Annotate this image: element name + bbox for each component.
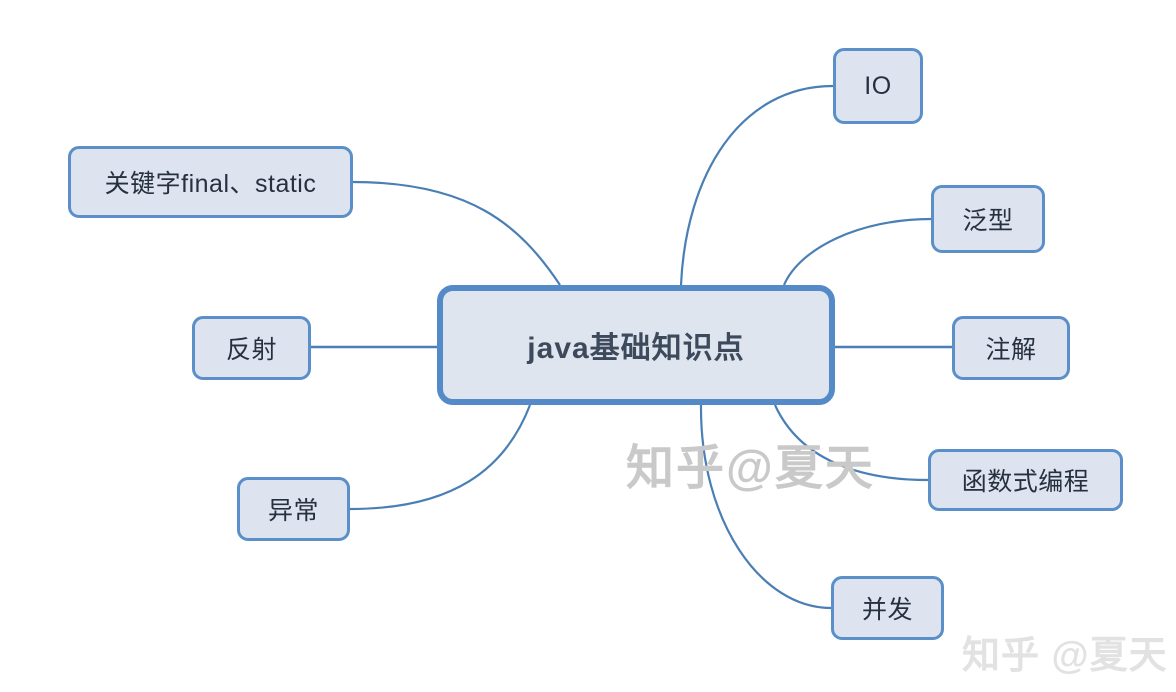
mindmap-canvas: 知乎@夏天 知乎 @夏天 java基础知识点 关键字final、static 反… [0,0,1176,692]
branch-node-concurrency[interactable]: 并发 [831,576,944,640]
branch-node-generics[interactable]: 泛型 [931,185,1045,253]
branch-node-keyword[interactable]: 关键字final、static [68,146,353,218]
branch-node-functional-programming[interactable]: 函数式编程 [928,449,1123,511]
branch-node-reflection[interactable]: 反射 [192,316,311,380]
edge-central-exception [350,405,530,509]
branch-node-io[interactable]: IO [833,48,923,124]
branch-node-exception[interactable]: 异常 [237,477,350,541]
edge-central-generic [784,219,931,285]
watermark-corner: 知乎 @夏天 [962,624,1168,679]
watermark-center: 知乎@夏天 [626,428,875,498]
edge-central-io [681,86,833,285]
edge-central-keyword [353,182,560,285]
central-node[interactable]: java基础知识点 [437,285,835,405]
branch-node-annotation[interactable]: 注解 [952,316,1070,380]
